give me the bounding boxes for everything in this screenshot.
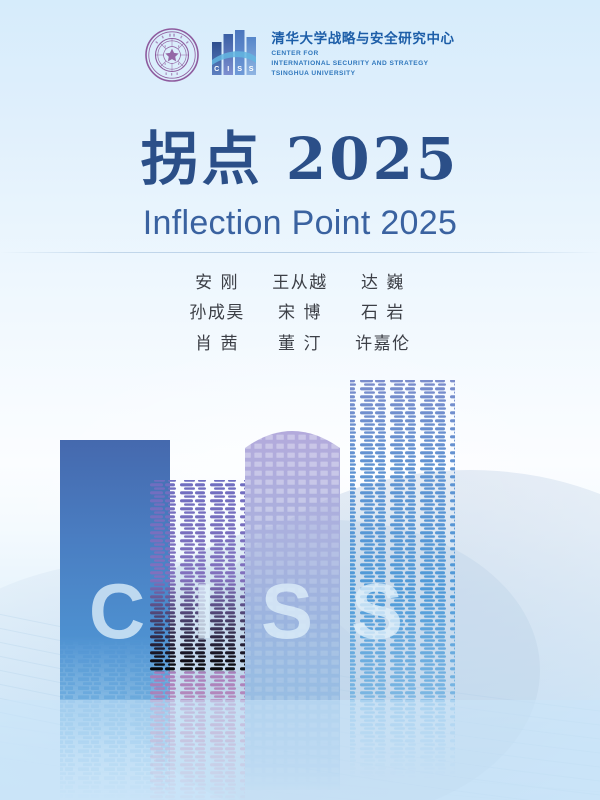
org-en-line-3: TSINGHUA UNIVERSITY <box>271 69 454 79</box>
title-block: 拐点 2025 Inflection Point 2025 <box>0 128 600 243</box>
author-name: 宋 博 <box>271 298 329 328</box>
author-list: 安 刚 王从越 达 巍 孙成昊 宋 博 石 岩 肖 茜 董 汀 许嘉伦 <box>0 268 600 359</box>
skyline-artwork: C I S S <box>0 370 600 800</box>
author-name: 石 岩 <box>354 298 412 328</box>
page-title-english: Inflection Point 2025 <box>0 203 600 244</box>
page-title-chinese: 拐点 2025 <box>0 128 600 191</box>
title-divider <box>0 252 600 253</box>
org-en-line-2: INTERNATIONAL SECURITY AND STRATEGY <box>271 59 454 69</box>
org-name-english: CENTER FOR INTERNATIONAL SECURITY AND ST… <box>271 49 454 79</box>
author-name: 孙成昊 <box>188 298 246 328</box>
author-name: 许嘉伦 <box>354 329 412 359</box>
watermark-letter-s1: S <box>261 567 315 655</box>
org-en-line-1: CENTER FOR <box>271 49 454 59</box>
watermark-letter-c: C <box>89 567 147 655</box>
watermark-letter-i: I <box>193 567 217 655</box>
svg-text:S: S <box>238 64 243 73</box>
watermark-letter-s2: S <box>351 567 405 655</box>
svg-text:C: C <box>214 64 219 73</box>
author-name: 王从越 <box>271 268 329 298</box>
author-name: 董 汀 <box>271 329 329 359</box>
skyline-bottom-haze <box>0 700 600 800</box>
author-name: 安 刚 <box>188 268 246 298</box>
svg-text:S: S <box>249 64 254 73</box>
header-logo-row: C I S S 清华大学战略与安全研究中心 CENTER FOR INTERNA… <box>0 28 600 82</box>
tsinghua-university-seal <box>145 28 199 82</box>
author-row: 孙成昊 宋 博 石 岩 <box>0 298 600 328</box>
org-name-block: 清华大学战略与安全研究中心 CENTER FOR INTERNATIONAL S… <box>271 31 454 80</box>
org-name-chinese: 清华大学战略与安全研究中心 <box>271 31 454 48</box>
ciss-logo: C I S S 清华大学战略与安全研究中心 CENTER FOR INTERNA… <box>211 30 454 80</box>
author-row: 肖 茜 董 汀 许嘉伦 <box>0 329 600 359</box>
svg-text:I: I <box>228 64 230 73</box>
author-name: 达 巍 <box>354 268 412 298</box>
author-row: 安 刚 王从越 达 巍 <box>0 268 600 298</box>
ciss-bars-icon: C I S S <box>211 30 263 80</box>
report-cover: C I S S 清华大学战略与安全研究中心 CENTER FOR INTERNA… <box>0 0 600 800</box>
author-name: 肖 茜 <box>188 329 246 359</box>
